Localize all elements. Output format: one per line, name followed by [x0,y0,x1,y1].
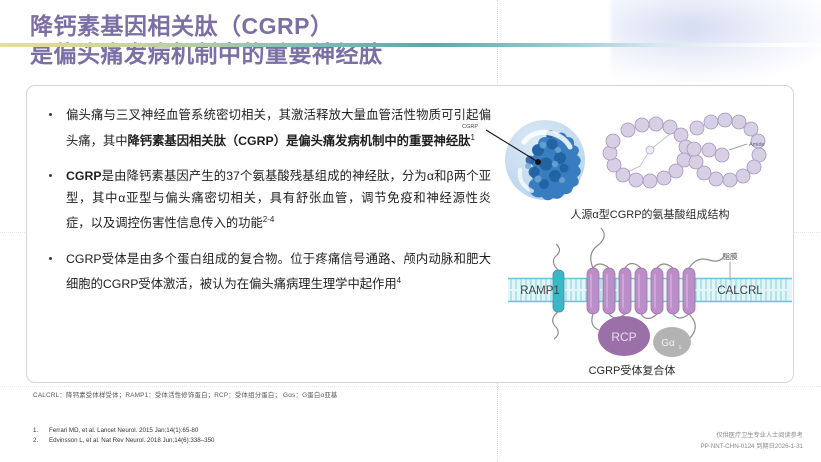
reference-text: Ferrari MD, et al. Lancet Neurol. 2015 J… [49,426,198,436]
list-item: 偏头痛与三叉神经血管系统密切相关，其激活释放大量血管活性物质可引起偏头痛，其中降… [46,105,491,152]
g-alpha-subscript: s [679,345,682,351]
layout-guide-horizontal-footer [0,386,821,388]
amide-label: Amide [749,142,765,148]
bullet-list: 偏头痛与三叉神经血管系统密切相关，其激活释放大量血管活性物质可引起偏头痛，其中降… [46,105,491,310]
figure-receptor-complex: 脂膜 [500,250,800,385]
bullet-marker-icon [49,113,52,116]
rcp-label: RCP [611,330,636,344]
bullet-1-sup: 1 [470,133,474,142]
g-alpha-subunit: Gα s [653,327,691,357]
bullet-2-seg-1: 是由降钙素基因产生的37个氨基酸残基组成的神经肽，分为α和β两个亚型，其中α亚型… [66,169,491,230]
title-line-1: 降钙素基因相关肽（CGRP） [30,12,730,40]
cgrp-pointer-label: CGRP [462,124,478,130]
membrane-label: 脂膜 [723,251,738,261]
bullet-1-seg-1: 降钙素基因相关肽（CGRP）是偏头痛发病机制中的重要神经肽 [128,134,471,148]
reference-list: 1. Ferrari MD, et al. Lancet Neurol. 201… [33,426,214,446]
reference-text: Edvinsson L, et al. Nat Rev Neurol. 2018… [49,436,214,446]
abbreviations-note: CALCRL：降钙素受体样受体；RAMP1：受体活性修饰蛋白；RCP：受体组分蛋… [33,390,338,399]
legal-line-1: 仅供医疗卫生专业人士阅读参考 [701,430,803,441]
g-alpha-label: Gα [661,338,675,349]
legal-line-2: PP-NNT-CHN-0124 到期日2026-1-31 [701,441,803,452]
bead-connector-lines [628,134,670,172]
title-divider-gradient [0,43,821,47]
peptide-figure-caption: 人源α型CGRP的氨基酸组成结构 [570,207,729,221]
list-item: CGRP受体是由多个蛋白组成的复合物。位于疼痛信号通路、颅内动脉和肥大细胞的CG… [46,249,491,296]
bullet-2-sup: 2‑4 [263,215,275,224]
reference-number: 2. [33,436,49,446]
list-item: 1. Ferrari MD, et al. Lancet Neurol. 201… [33,426,214,436]
receptor-figure-caption: CGRP受体复合体 [589,363,676,377]
figure-peptide-structure: CGRP [500,100,800,230]
list-item: 2. Edvinsson L, et al. Nat Rev Neurol. 2… [33,436,214,446]
rcp-subunit: RCP [598,316,650,356]
slide-canvas: 降钙素基因相关肽（CGRP） 是偏头痛发病机制中的重要神经肽 偏头痛与三叉神经血… [0,0,821,462]
list-item: CGRP是由降钙素基因产生的37个氨基酸残基组成的神经肽，分为α和β两个亚型，其… [46,166,491,235]
legal-disclaimer: 仅供医疗卫生专业人士阅读参考 PP-NNT-CHN-0124 到期日2026-1… [701,430,803,452]
calcrl-label: CALCRL [717,285,763,297]
amino-acid-bead-chain [603,113,766,188]
reference-number: 1. [33,426,49,436]
calcrl-7tm-helices [587,268,695,314]
bullet-3-sup: 4 [397,276,401,285]
cgrp-molecule-illustration [505,120,585,200]
slide-title: 降钙素基因相关肽（CGRP） 是偏头痛发病机制中的重要神经肽 [30,12,730,68]
receptor-figure-svg: 脂膜 [500,250,800,385]
ramp1-c-tail [553,312,559,339]
peptide-figure-svg: CGRP [500,100,800,230]
ramp1-label: RAMP1 [520,285,560,297]
bullet-marker-icon [49,257,52,260]
bullet-2-seg-0: CGRP [66,169,102,183]
bullet-3-seg-0: CGRP受体是由多个蛋白组成的复合物。位于疼痛信号通路、颅内动脉和肥大细胞的CG… [66,252,491,292]
bullet-marker-icon [49,174,52,177]
